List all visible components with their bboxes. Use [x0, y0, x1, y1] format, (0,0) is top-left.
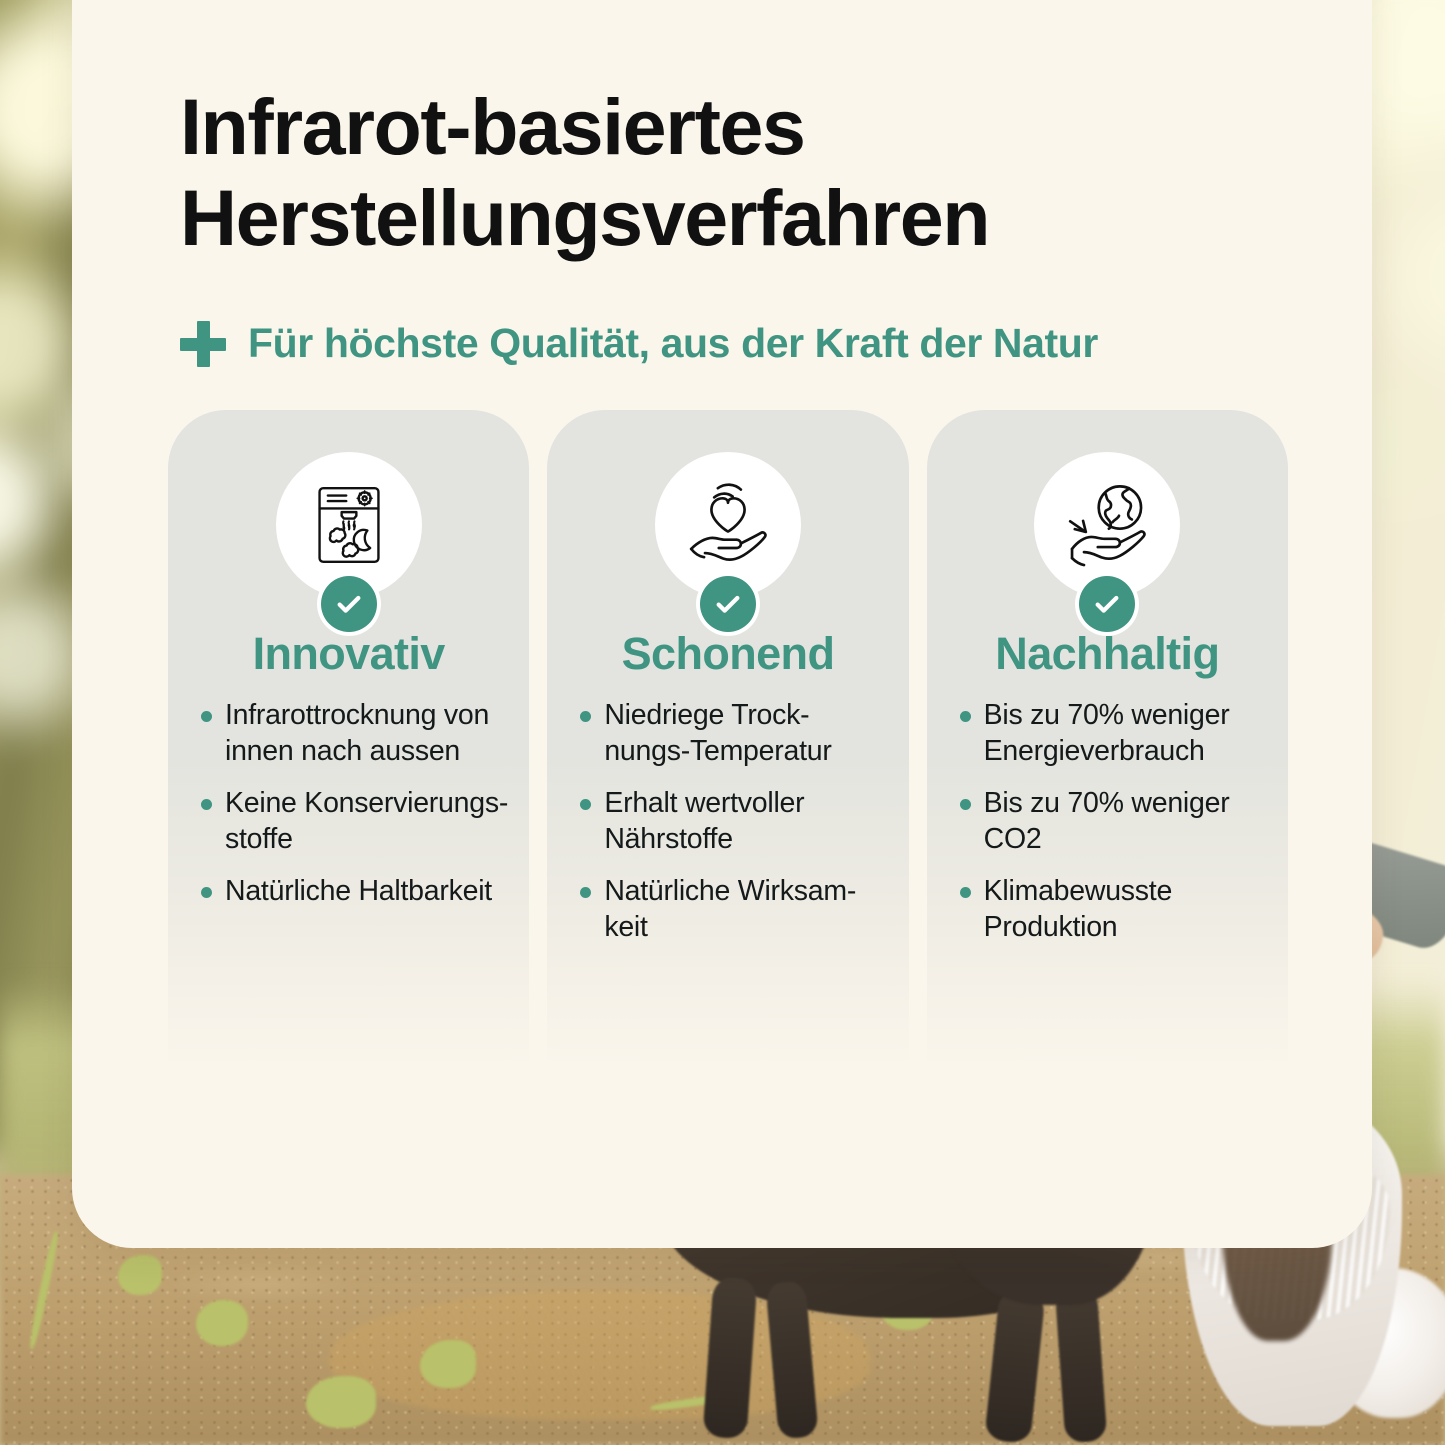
- check-icon: [1091, 588, 1123, 620]
- check-icon: [712, 588, 744, 620]
- check-badge: [700, 576, 756, 632]
- page-title: Infrarot-basiertes Herstellungsverfahren: [180, 82, 1260, 264]
- feature-card-title: Schonend: [547, 628, 908, 680]
- list-item: Bis zu 70% weniger Energieverbrauch: [957, 698, 1274, 770]
- feature-card-title: Nachhaltig: [927, 628, 1288, 680]
- background-weed: [118, 1255, 162, 1295]
- list-item: Natürliche Wirksam-keit: [577, 874, 894, 946]
- dog-leg: [702, 1277, 757, 1440]
- plus-icon: [180, 321, 226, 367]
- list-item: Keine Konservierungs-stoffe: [198, 786, 515, 858]
- page-title-line-2: Herstellungsverfahren: [180, 173, 1260, 264]
- feature-bullet-list: Bis zu 70% weniger Energieverbrauch Bis …: [957, 698, 1274, 961]
- check-icon: [333, 588, 365, 620]
- check-badge: [321, 576, 377, 632]
- list-item: Infrarottrocknung von innen nach aussen: [198, 698, 515, 770]
- list-item: Natürliche Haltbarkeit: [198, 874, 515, 910]
- check-badge: [1079, 576, 1135, 632]
- feature-card-schonend: Schonend Niedriege Trock-nungs-Temperatu…: [547, 410, 908, 1070]
- feature-card-title: Innovativ: [168, 628, 529, 680]
- feature-bullet-list: Niedriege Trock-nungs-Temperatur Erhalt …: [577, 698, 894, 961]
- list-item: Klimabewusste Produktion: [957, 874, 1274, 946]
- feature-card-innovativ: Innovativ Infrarottrocknung von innen na…: [168, 410, 529, 1070]
- feature-card-nachhaltig: Nachhaltig Bis zu 70% weniger Energiever…: [927, 410, 1288, 1070]
- list-item: Bis zu 70% weniger CO2: [957, 786, 1274, 858]
- list-item: Niedriege Trock-nungs-Temperatur: [577, 698, 894, 770]
- page-title-line-1: Infrarot-basiertes: [180, 82, 805, 171]
- content-panel: Infrarot-basiertes Herstellungsverfahren…: [72, 0, 1372, 1248]
- dog-leg: [1055, 1285, 1108, 1444]
- background-weed: [306, 1376, 376, 1428]
- subheading: Für höchste Qualität, aus der Kraft der …: [180, 320, 1098, 367]
- background-weed: [196, 1300, 248, 1346]
- feature-bullet-list: Infrarottrocknung von innen nach aussen …: [198, 698, 515, 926]
- feature-cards: Innovativ Infrarottrocknung von innen na…: [168, 410, 1288, 1070]
- subheading-text: Für höchste Qualität, aus der Kraft der …: [248, 320, 1098, 367]
- background-weed: [420, 1340, 476, 1388]
- list-item: Erhalt wertvoller Nährstoffe: [577, 786, 894, 858]
